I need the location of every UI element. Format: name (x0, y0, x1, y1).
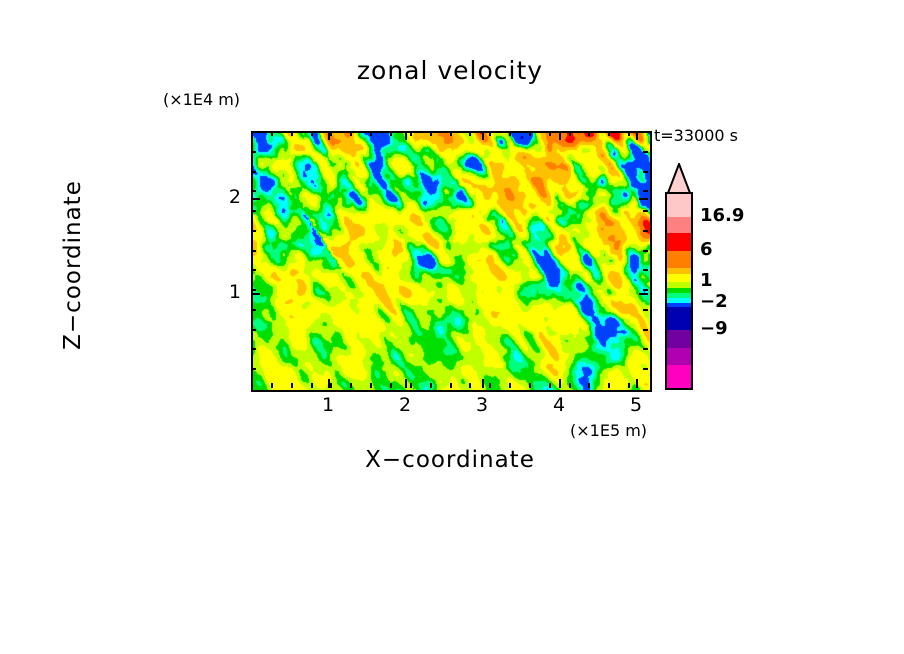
x-minor-tick (410, 383, 412, 388)
y-axis-title: Z−coordinate (60, 135, 86, 395)
x-major-tick (328, 131, 330, 140)
x-major-tick (482, 379, 484, 388)
x-major-tick (559, 131, 561, 140)
x-minor-tick (350, 131, 352, 136)
y-minor-tick (643, 368, 648, 370)
colorbar-band (667, 274, 691, 281)
y-minor-tick (643, 250, 648, 252)
y-minor-tick (251, 230, 256, 232)
x-minor-tick (410, 131, 412, 136)
y-minor-tick (643, 269, 648, 271)
x-major-tick (405, 379, 407, 388)
y-tick-label: 2 (219, 186, 241, 208)
x-major-tick (328, 379, 330, 388)
x-minor-tick (330, 383, 332, 388)
x-minor-tick (549, 383, 551, 388)
x-tick-label: 4 (544, 394, 574, 416)
y-major-tick (639, 198, 648, 200)
x-minor-tick (549, 131, 551, 136)
colorbar-tick-label: 1 (700, 270, 713, 291)
contour-plot-area (251, 131, 652, 392)
x-minor-tick (489, 131, 491, 136)
x-minor-tick (430, 131, 432, 136)
x-minor-tick (291, 383, 293, 388)
colorbar-band (667, 330, 691, 348)
y-minor-tick (643, 230, 648, 232)
x-tick-label: 3 (467, 394, 497, 416)
x-tick-label: 2 (390, 394, 420, 416)
x-minor-tick (628, 131, 630, 136)
x-minor-tick (489, 383, 491, 388)
colorbar-tick-label: −2 (700, 291, 728, 312)
colorbar-bands (665, 192, 693, 390)
x-tick-label: 1 (313, 394, 343, 416)
x-minor-tick (390, 383, 392, 388)
colorbar-tick-label: −9 (700, 318, 728, 339)
y-minor-tick (251, 309, 256, 311)
x-minor-tick (311, 383, 313, 388)
y-minor-tick (643, 190, 648, 192)
x-major-tick (405, 131, 407, 140)
x-minor-tick (450, 131, 452, 136)
x-minor-tick (430, 383, 432, 388)
y-axis-unit-label: (×1E4 m) (163, 90, 240, 109)
x-major-tick (482, 131, 484, 140)
y-major-tick (251, 293, 260, 295)
y-minor-tick (643, 329, 648, 331)
y-minor-tick (643, 171, 648, 173)
x-minor-tick (588, 383, 590, 388)
x-minor-tick (588, 131, 590, 136)
y-minor-tick (251, 269, 256, 271)
colorbar-tick-label: 6 (700, 239, 713, 260)
y-minor-tick (251, 171, 256, 173)
x-axis-title: X−coordinate (251, 447, 649, 473)
y-minor-tick (251, 329, 256, 331)
x-minor-tick (569, 131, 571, 136)
y-major-tick (639, 293, 648, 295)
x-major-tick (636, 379, 638, 388)
time-stamp: t=33000 s (654, 126, 738, 145)
x-minor-tick (370, 383, 372, 388)
x-axis-unit-label: (×1E5 m) (570, 421, 647, 440)
y-minor-tick (251, 151, 256, 153)
y-minor-tick (251, 289, 256, 291)
page-title: zonal velocity (251, 56, 649, 85)
x-major-tick (636, 131, 638, 140)
x-minor-tick (390, 131, 392, 136)
x-tick-label: 5 (621, 394, 651, 416)
x-minor-tick (271, 131, 273, 136)
colorbar-band (667, 251, 691, 269)
x-minor-tick (529, 383, 531, 388)
contour-field (253, 133, 650, 390)
y-minor-tick (251, 210, 256, 212)
x-minor-tick (569, 383, 571, 388)
x-minor-tick (469, 383, 471, 388)
colorbar-band (667, 217, 691, 234)
x-minor-tick (330, 131, 332, 136)
y-tick-label: 1 (219, 281, 241, 303)
colorbar-band (667, 194, 691, 217)
x-minor-tick (509, 383, 511, 388)
x-minor-tick (608, 383, 610, 388)
colorbar-band (667, 348, 691, 366)
y-minor-tick (643, 289, 648, 291)
colorbar-tick-label: 16.9 (700, 205, 744, 226)
x-minor-tick (628, 383, 630, 388)
x-minor-tick (291, 131, 293, 136)
x-minor-tick (350, 383, 352, 388)
figure-root: zonal velocity (×1E4 m) t=33000 s 123451… (0, 0, 904, 654)
y-minor-tick (643, 210, 648, 212)
x-minor-tick (271, 383, 273, 388)
colorbar-band (667, 365, 691, 388)
y-minor-tick (643, 151, 648, 153)
y-minor-tick (251, 250, 256, 252)
x-minor-tick (509, 131, 511, 136)
y-minor-tick (643, 309, 648, 311)
x-minor-tick (469, 131, 471, 136)
y-minor-tick (251, 368, 256, 370)
x-minor-tick (370, 131, 372, 136)
x-minor-tick (311, 131, 313, 136)
x-major-tick (559, 379, 561, 388)
x-minor-tick (608, 131, 610, 136)
y-minor-tick (251, 348, 256, 350)
colorbar-band (667, 307, 691, 330)
x-minor-tick (529, 131, 531, 136)
y-minor-tick (251, 190, 256, 192)
colorbar: 16.961−2−9 (655, 163, 775, 398)
y-minor-tick (643, 348, 648, 350)
y-major-tick (251, 198, 260, 200)
colorbar-arrow-icon (665, 163, 693, 193)
x-minor-tick (450, 383, 452, 388)
colorbar-band (667, 233, 691, 251)
